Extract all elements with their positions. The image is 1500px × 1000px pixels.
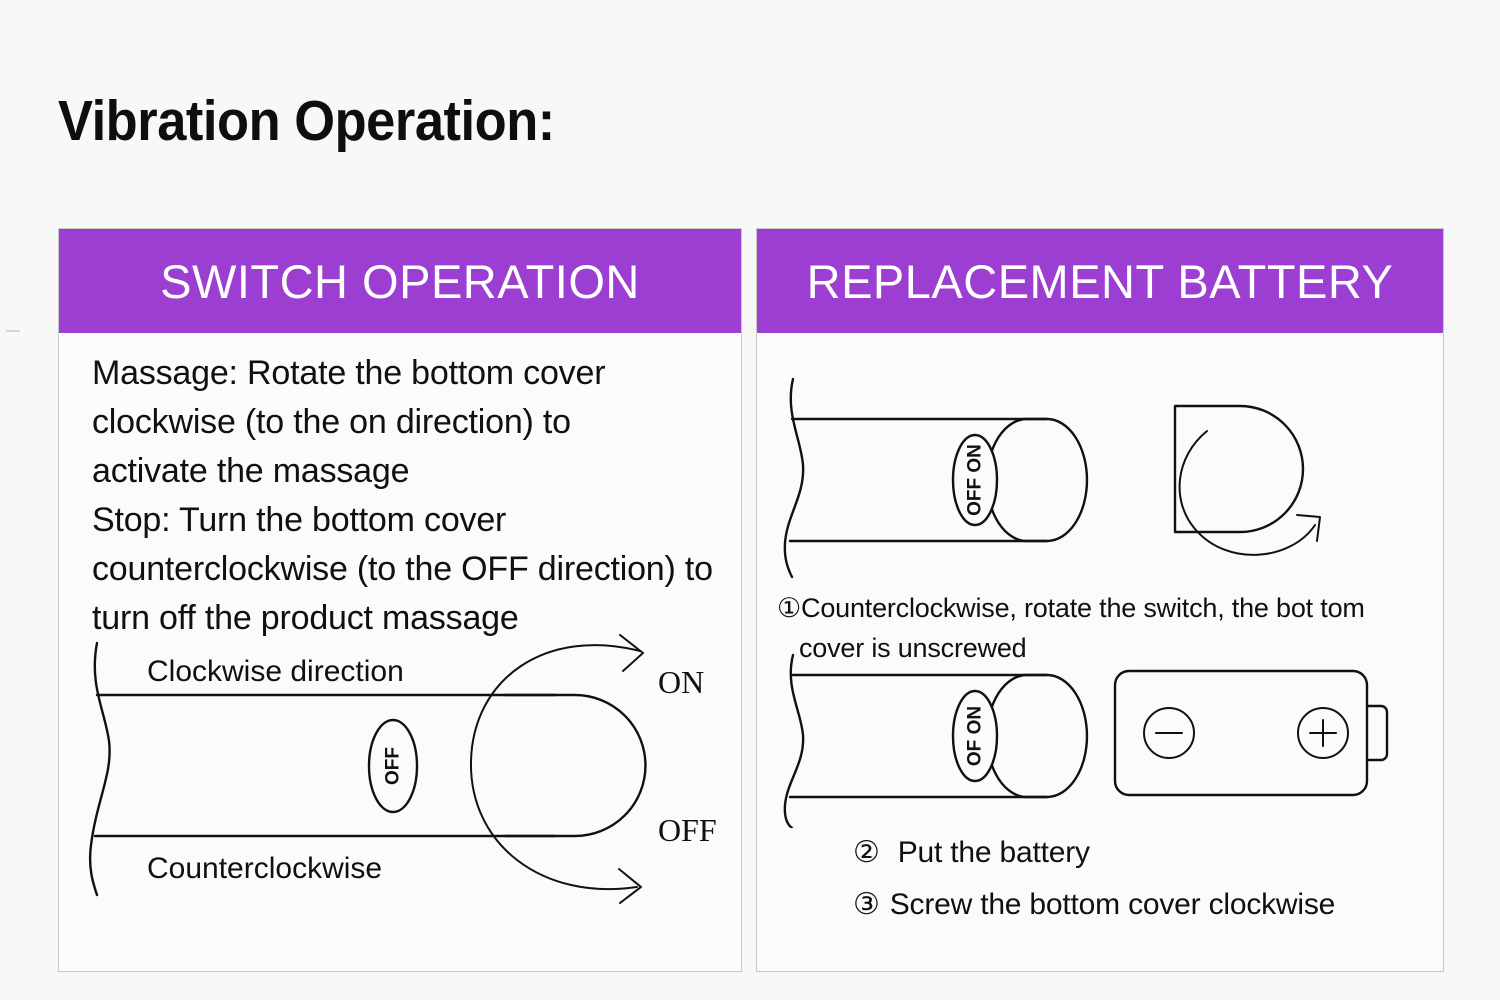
rotation-arrow-head-top [620,635,643,671]
panel-battery-header: REPLACEMENT BATTERY [757,229,1443,333]
panel-switch-header: SWITCH OPERATION [59,229,741,333]
break-line-icon [785,379,803,577]
label-counterclockwise: Counterclockwise [147,852,382,885]
battery-step1-diagram: OFF ON [775,373,1425,583]
label-off: OFF [658,812,717,848]
switch-ring-label: OFF ON [965,444,986,516]
panel-switch-operation: SWITCH OPERATION Massage: Rotate the bot… [58,228,742,972]
switch-ring-label: OFF [383,747,404,785]
switch-line-1: Massage: Rotate the bottom cover [92,349,740,398]
instruction-sheet: Vibration Operation: SWITCH OPERATION Ma… [0,0,1500,1000]
rotation-arrow-path [1180,431,1315,555]
battery-step2-svg: OF ON [775,653,1425,828]
break-line-icon [90,643,110,895]
switch-instructions: Massage: Rotate the bottom cover clockwi… [92,349,740,643]
switch-line-3: activate the massage [92,447,740,496]
switch-operation-diagram: OFF Clockwise direction Counterclockwise… [75,633,735,923]
edge-artifact [6,330,20,332]
rotation-arrow-head-bottom [619,869,641,903]
switch-diagram-svg: OFF Clockwise direction Counterclockwise… [75,633,735,923]
bottom-cover-cap [987,675,1087,797]
step-1-text: Counterclockwise, rotate the switch, the… [801,593,1365,623]
page-title: Vibration Operation: [58,88,555,154]
label-on: ON [658,664,704,700]
switch-ring-label: OF ON [965,706,986,766]
step-3: ③Screw the bottom cover clockwise [853,885,1335,925]
rotation-arrow-path [471,645,640,889]
battery-step1-svg: OFF ON [775,373,1425,583]
bottom-cover-piece [1175,406,1303,532]
switch-line-4: Stop: Turn the bottom cover [92,496,740,545]
panel-switch-body: Massage: Rotate the bottom cover clockwi… [59,333,741,971]
panel-replacement-battery: REPLACEMENT BATTERY OFF ON [756,228,1444,972]
battery-terminal-nub [1367,706,1387,760]
panel-switch-header-title: SWITCH OPERATION [160,254,640,309]
break-line-icon [785,655,803,828]
step-1-number: ① [777,588,801,628]
panel-battery-body: OFF ON ①Counterclockwise, rotate the swi… [757,333,1443,971]
step-3-number: ③ [853,885,880,925]
step-2-number: ② [853,833,880,873]
bottom-cover-cap [987,419,1087,541]
step-2: ②Put the battery [853,833,1090,873]
rotation-arrow-head [1297,515,1320,541]
step-2-text: Put the battery [898,836,1090,869]
step-3-text: Screw the bottom cover clockwise [890,888,1335,921]
bottom-cover-cap [505,695,645,836]
label-clockwise-direction: Clockwise direction [147,655,404,688]
switch-line-2: clockwise (to the on direction) to [92,398,740,447]
switch-line-5: counterclockwise (to the OFF direction) … [92,545,740,594]
panel-battery-header-title: REPLACEMENT BATTERY [807,254,1394,309]
battery-step2-diagram: OF ON [775,653,1425,828]
